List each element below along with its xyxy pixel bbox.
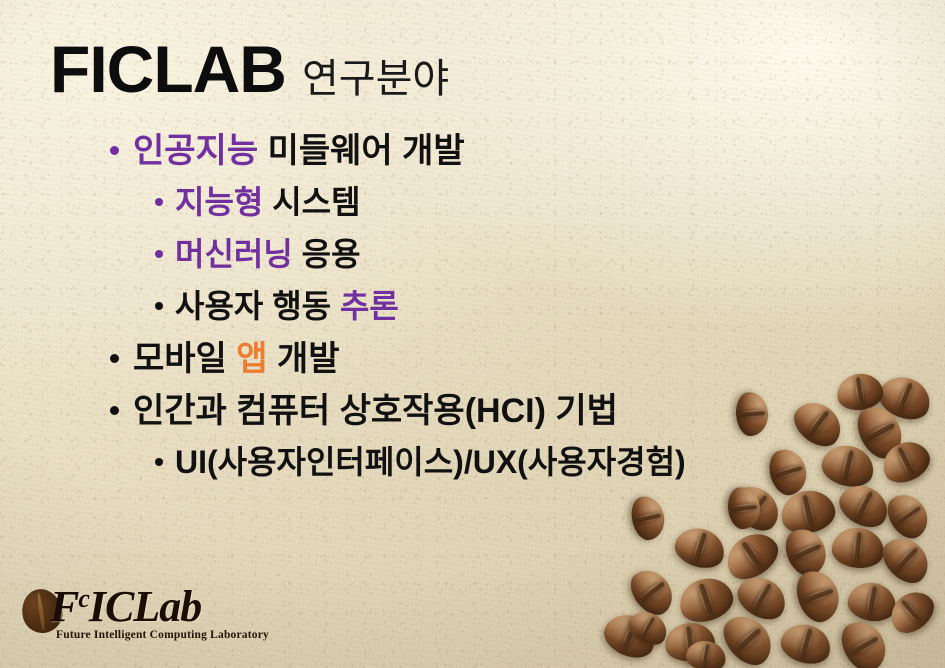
text-segment: 인공지능 — [133, 132, 258, 170]
coffee-bean-shape — [876, 434, 936, 489]
coffee-bean-shape — [718, 524, 785, 587]
logo-wordmark: FcICLab — [50, 581, 201, 632]
list-item: 인공지능 미들웨어 개발 — [0, 134, 880, 186]
coffee-bean-shape — [880, 487, 936, 545]
coffee-bean-shape — [875, 529, 937, 591]
coffee-bean-shape — [830, 525, 886, 570]
list-item: 지능형 시스템 — [0, 186, 880, 238]
text-segment: 미들웨어 개발 — [258, 132, 465, 170]
text-segment: 모바일 — [133, 340, 236, 378]
coffee-bean-shape — [883, 583, 941, 640]
coffee-bean-shape — [834, 613, 895, 668]
bullet-dot-icon — [155, 198, 163, 206]
title-main-text: FICLAB — [50, 36, 286, 102]
text-segment: 개발 — [268, 340, 340, 378]
coffee-bean-shape — [715, 607, 781, 668]
logo-letters-iclab: ICLab — [89, 582, 201, 631]
list-item: 사용자 행동 추론 — [0, 290, 880, 342]
coffee-bean-shape — [873, 370, 936, 427]
list-item-label: 머신러닝 응용 — [175, 238, 361, 270]
coffee-bean-shape — [663, 620, 717, 663]
coffee-bean-shape — [731, 569, 793, 627]
bullet-dot-icon — [110, 146, 119, 155]
text-segment: 인간과 컴퓨터 상호작용(HCI) 기법 — [133, 392, 618, 430]
text-segment: 추론 — [340, 288, 399, 324]
logo-letter-f: F — [50, 582, 78, 631]
list-item: 머신러닝 응용 — [0, 238, 880, 290]
list-item-label: 모바일 앱 개발 — [133, 342, 340, 376]
text-segment: 사용자 행동 — [175, 288, 340, 324]
bullet-dot-icon — [155, 250, 163, 258]
list-item: 인간과 컴퓨터 상호작용(HCI) 기법 — [0, 394, 880, 446]
list-item-label: 인간과 컴퓨터 상호작용(HCI) 기법 — [133, 394, 618, 428]
coffee-bean-shape — [684, 638, 729, 668]
bullet-dot-icon — [110, 354, 119, 363]
text-segment: 머신러닝 — [175, 236, 293, 272]
coffee-bean-shape — [598, 607, 662, 665]
bullet-dot-icon — [110, 406, 119, 415]
coffee-bean-shape — [628, 493, 668, 543]
ficlab-logo: FcICLab Future Intelligent Computing Lab… — [22, 585, 252, 647]
coffee-bean-shape — [790, 565, 845, 628]
page-title: FICLAB 연구분야 — [50, 36, 449, 102]
coffee-bean-shape — [845, 579, 899, 625]
list-item: UI(사용자인터페이스)/UX(사용자경험) — [0, 446, 880, 498]
list-item-label: 지능형 시스템 — [175, 186, 361, 218]
text-segment: 응용 — [293, 236, 361, 272]
list-item-label: 인공지능 미들웨어 개발 — [133, 134, 465, 168]
research-areas-list: 인공지능 미들웨어 개발지능형 시스템머신러닝 응용사용자 행동 추론모바일 앱… — [0, 134, 880, 498]
list-item-label: 사용자 행동 추론 — [175, 290, 399, 322]
text-segment: 앱 — [236, 340, 267, 378]
bullet-dot-icon — [155, 458, 163, 466]
coffee-bean-shape — [674, 572, 738, 629]
list-item-label: UI(사용자인터페이스)/UX(사용자경험) — [175, 446, 686, 478]
coffee-bean-shape — [777, 619, 836, 668]
coffee-bean-shape — [623, 562, 681, 622]
text-segment: UI(사용자인터페이스)/UX(사용자경험) — [175, 444, 686, 480]
logo-letter-c: c — [78, 584, 89, 613]
text-segment: 지능형 — [175, 184, 263, 220]
bullet-dot-icon — [155, 302, 163, 310]
title-sub-text: 연구분야 — [302, 59, 449, 99]
coffee-bean-shape — [779, 522, 833, 581]
slide-canvas: FICLAB 연구분야 인공지능 미들웨어 개발지능형 시스템머신러닝 응용사용… — [0, 0, 945, 668]
list-item: 모바일 앱 개발 — [0, 342, 880, 394]
coffee-bean-shape — [670, 522, 729, 574]
logo-tagline: Future Intelligent Computing Laboratory — [56, 629, 269, 641]
coffee-bean-shape — [623, 605, 673, 651]
text-segment: 시스템 — [263, 184, 360, 220]
